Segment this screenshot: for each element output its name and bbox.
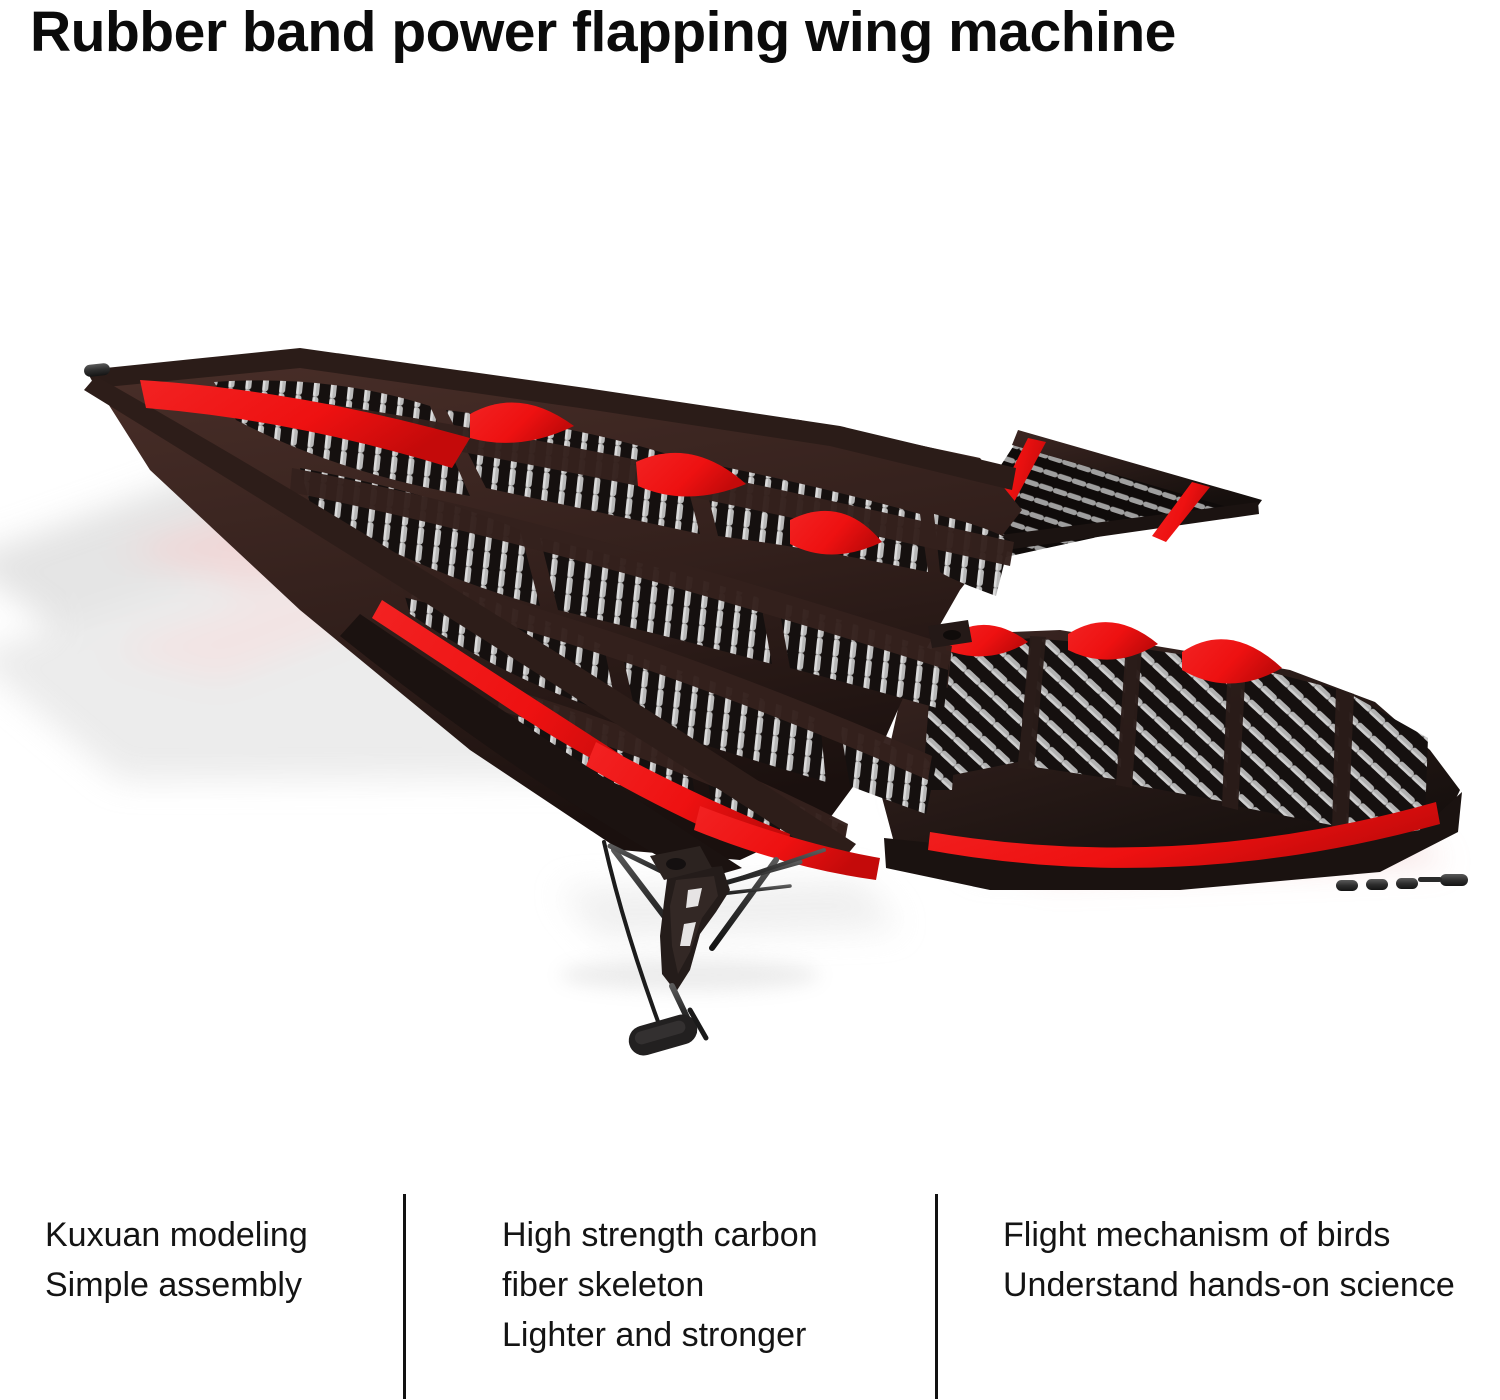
feature-strip: Kuxuan modeling Simple assembly High str… <box>0 1180 1500 1400</box>
feature-column-2: High strength carbon fiber skeleton Ligh… <box>502 1210 818 1360</box>
feature-column-3-line-1: Flight mechanism of birds <box>1003 1210 1455 1260</box>
feature-column-2-line-3: Lighter and stronger <box>502 1310 818 1360</box>
feature-column-2-line-1: High strength carbon <box>502 1210 818 1260</box>
ornithopter-illustration <box>0 90 1500 1155</box>
feature-divider-1 <box>403 1194 406 1399</box>
feature-divider-2 <box>935 1194 938 1399</box>
feature-column-3-line-2: Understand hands-on science <box>1003 1260 1455 1310</box>
feature-column-1-line-2: Simple assembly <box>45 1260 308 1310</box>
page-title: Rubber band power flapping wing machine <box>30 2 1176 64</box>
feature-column-1-line-1: Kuxuan modeling <box>45 1210 308 1260</box>
feature-column-2-line-2: fiber skeleton <box>502 1260 818 1310</box>
title-bar: Rubber band power flapping wing machine <box>0 0 1500 90</box>
feature-column-1: Kuxuan modeling Simple assembly <box>45 1210 308 1310</box>
product-hero-image <box>0 90 1500 1155</box>
feature-column-3: Flight mechanism of birds Understand han… <box>1003 1210 1455 1310</box>
